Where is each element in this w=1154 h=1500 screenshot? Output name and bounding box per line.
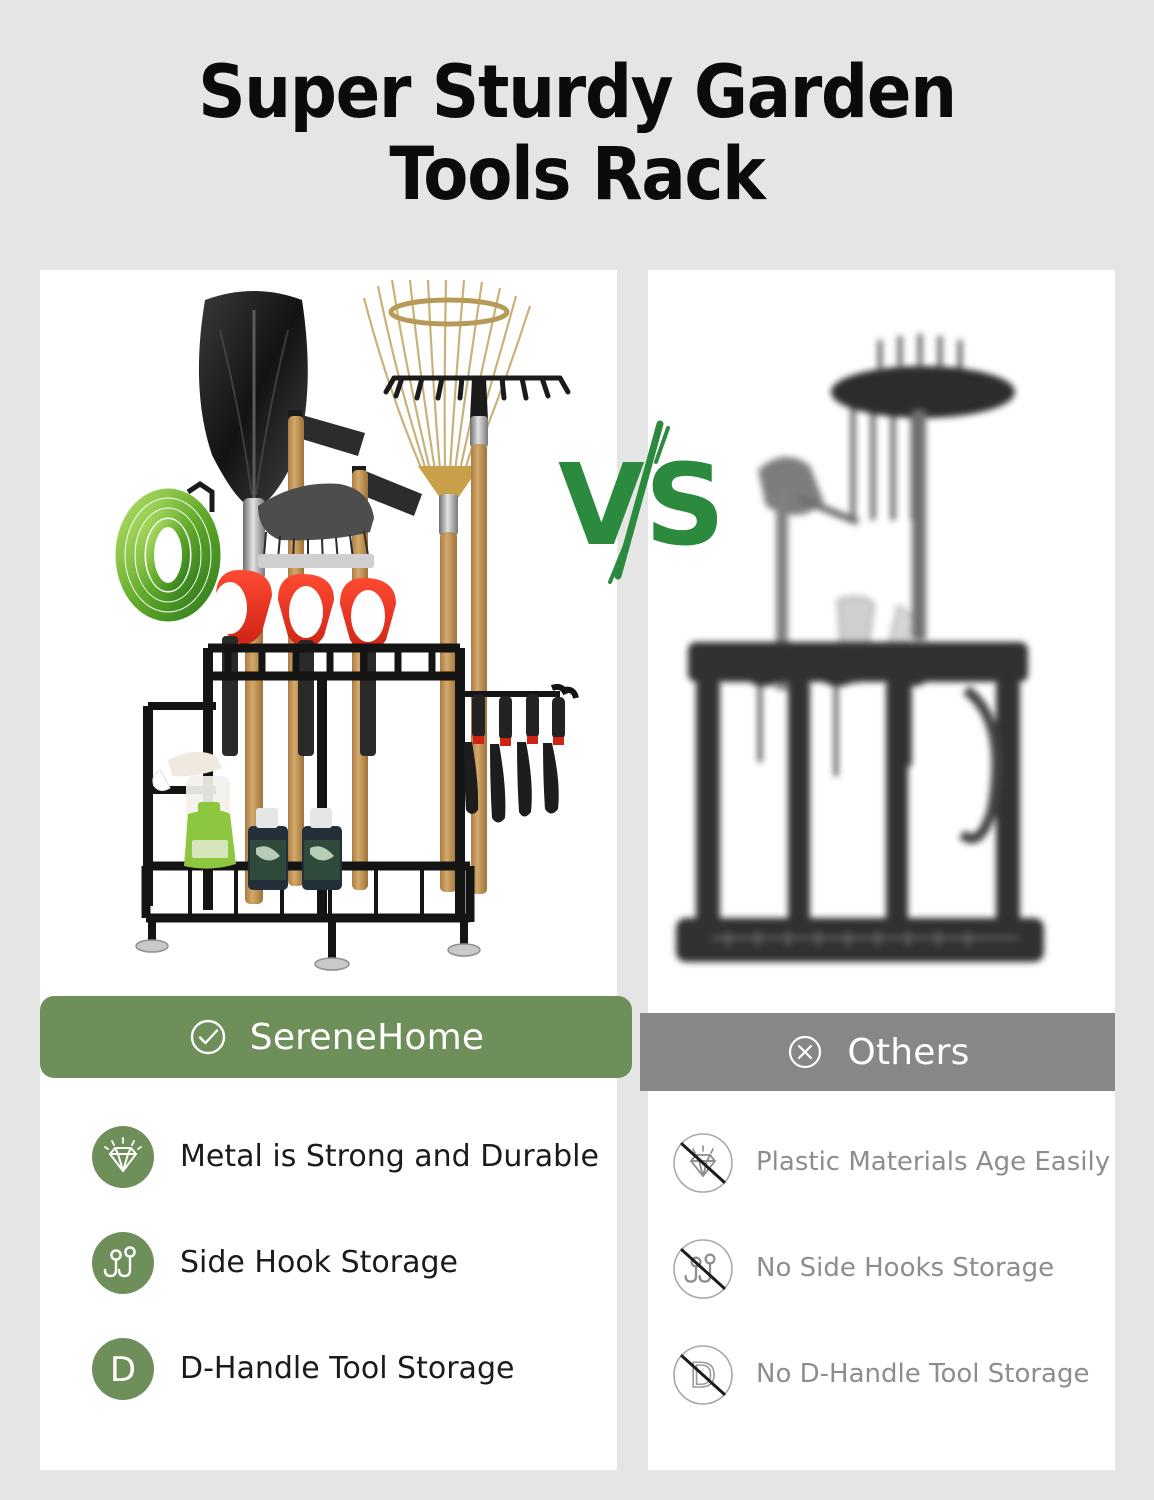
feature-row: Plastic Materials Age Easily xyxy=(672,1132,1112,1194)
feature-label: No Side Hooks Storage xyxy=(756,1254,1054,1284)
x-circle-icon xyxy=(785,1032,825,1072)
feature-label: No D-Handle Tool Storage xyxy=(756,1360,1089,1390)
diamond-icon xyxy=(92,1126,154,1188)
broom xyxy=(258,483,374,568)
feature-label: D-Handle Tool Storage xyxy=(180,1352,514,1387)
letter-d-icon: D xyxy=(92,1338,154,1400)
page-title: Super Sturdy Garden Tools Rack xyxy=(0,52,1154,216)
product-photo-others xyxy=(648,270,1115,1015)
feature-label: Metal is Strong and Durable xyxy=(180,1140,599,1175)
feature-row: Side Hook Storage xyxy=(92,1232,612,1294)
column-divider xyxy=(617,270,648,1470)
diamond-crossed-icon xyxy=(672,1132,734,1194)
others-feature-list: Plastic Materials Age Easily No Side Hoo… xyxy=(672,1132,1112,1406)
feature-label: Plastic Materials Age Easily xyxy=(756,1148,1110,1178)
letter-d-crossed-icon: D xyxy=(672,1344,734,1406)
hooks-icon xyxy=(92,1232,154,1294)
product-photo-brand xyxy=(40,270,617,990)
feature-row: D D-Handle Tool Storage xyxy=(92,1338,612,1400)
svg-text:D: D xyxy=(110,1350,136,1390)
brand-banner-label: SereneHome xyxy=(250,1017,484,1058)
page-title-line1: Super Sturdy Garden xyxy=(198,50,956,135)
brand-banner: SereneHome xyxy=(40,996,632,1078)
brand-feature-list: Metal is Strong and Durable Side Hook St… xyxy=(92,1126,612,1400)
others-banner: Others xyxy=(640,1013,1115,1091)
others-banner-label: Others xyxy=(847,1032,969,1073)
page-title-line2: Tools Rack xyxy=(389,132,764,217)
feature-row: Metal is Strong and Durable xyxy=(92,1126,612,1188)
feature-row: D No D-Handle Tool Storage xyxy=(672,1344,1112,1406)
feature-label: Side Hook Storage xyxy=(180,1246,458,1281)
check-circle-icon xyxy=(188,1017,228,1057)
hooks-crossed-icon xyxy=(672,1238,734,1300)
feature-row: No Side Hooks Storage xyxy=(672,1238,1112,1300)
